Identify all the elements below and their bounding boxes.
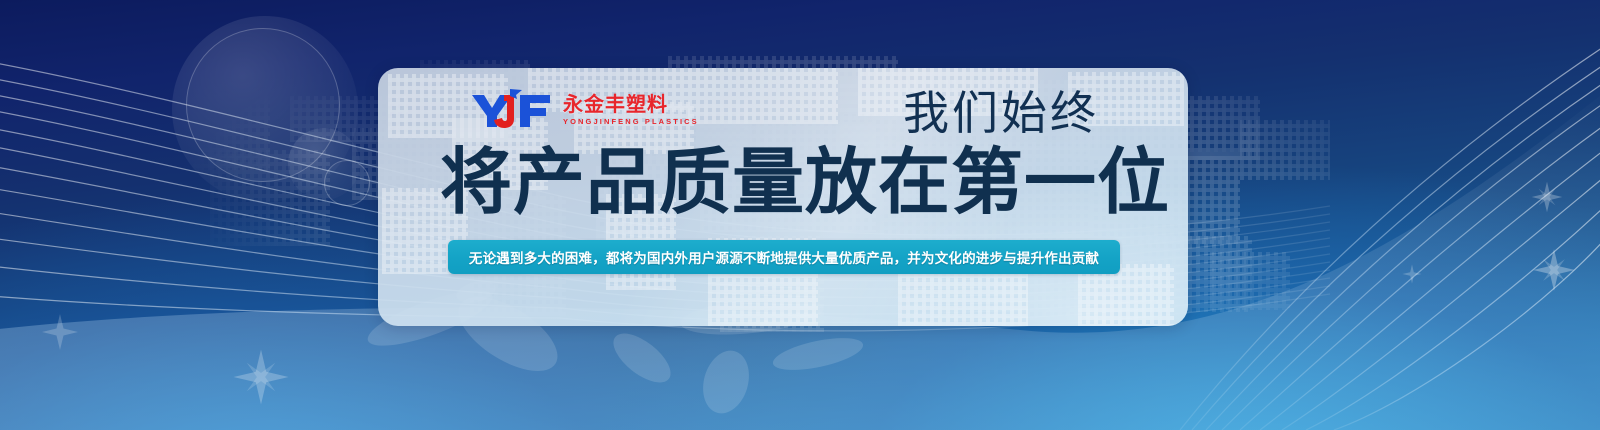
headline-main: 将产品质量放在第一位: [440, 146, 1170, 218]
logo-brand-en: YONGJINFENG PLASTICS: [563, 118, 699, 126]
sparkle-star-icon-4: [1532, 248, 1576, 292]
promo-banner: 永金丰塑料 YONGJINFENG PLASTICS 我们始终 将产品质量放在第…: [0, 0, 1600, 430]
content-panel: 永金丰塑料 YONGJINFENG PLASTICS 我们始终 将产品质量放在第…: [378, 68, 1188, 326]
sparkle-star-icon: [40, 312, 80, 352]
decorative-circle-outline-2: [324, 160, 370, 206]
logo-brand-cn: 永金丰塑料: [563, 94, 699, 114]
sparkle-star-icon-5: [1400, 262, 1424, 286]
company-logo[interactable]: 永金丰塑料 YONGJINFENG PLASTICS: [470, 88, 699, 132]
headline-top-line: 我们始终: [903, 90, 1099, 136]
sparkle-star-icon-3: [1530, 180, 1564, 214]
subtitle-text: 无论遇到多大的困难，都将为国内外用户源源不断地提供大量优质产品，并为文化的进步与…: [469, 247, 1099, 267]
sparkle-star-icon-2: [232, 348, 290, 406]
yjf-monogram-icon: [470, 89, 556, 131]
subtitle-strip: 无论遇到多大的困难，都将为国内外用户源源不断地提供大量优质产品，并为文化的进步与…: [448, 240, 1120, 274]
